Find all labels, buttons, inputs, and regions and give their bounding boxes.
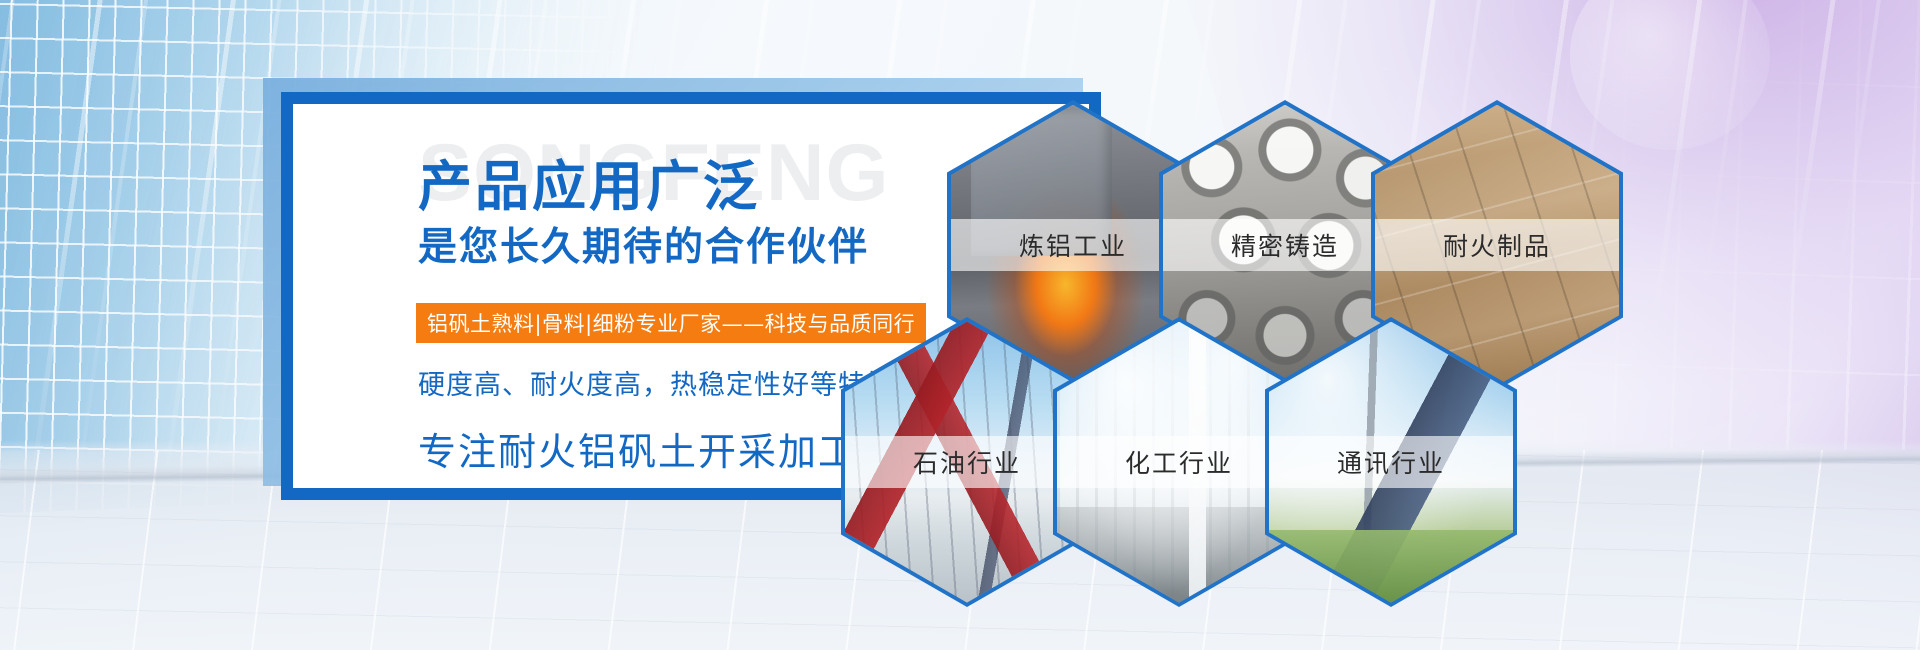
slogan-text: 专注耐火铝矾土开采加工 (418, 434, 858, 472)
hexagon-label-text: 精密铸造 (1231, 227, 1339, 263)
hexagon-label-oil: 石油行业 (845, 436, 1089, 488)
tagline-text: 铝矾土熟料|骨料|细粉专业厂家——科技与品质同行 (427, 308, 915, 338)
hexagon-label-telecom: 通讯行业 (1269, 436, 1513, 488)
promotional-banner: SONGFENG 产品应用广泛 是您长久期待的合作伙伴 铝矾土熟料|骨料|细粉专… (0, 0, 1920, 650)
hexagon-label-casting: 精密铸造 (1163, 219, 1407, 271)
headline-secondary: 是您长久期待的合作伙伴 (418, 228, 869, 267)
hexagon-label-text: 化工行业 (1125, 444, 1233, 480)
hexagon-label-text: 炼铝工业 (1019, 227, 1127, 263)
tagline-highlight-bar: 铝矾土熟料|骨料|细粉专业厂家——科技与品质同行 (416, 303, 926, 343)
hexagon-label-chemical: 化工行业 (1057, 436, 1301, 488)
hexagon-label-text: 石油行业 (913, 444, 1021, 480)
headline-primary: 产品应用广泛 (418, 160, 760, 214)
hexagon-label-aluminium: 炼铝工业 (951, 219, 1195, 271)
feature-text: 硬度高、耐火度高，热稳定性好等特性 (418, 372, 894, 399)
hexagon-label-text: 通讯行业 (1337, 444, 1445, 480)
hexagon-label-text: 耐火制品 (1443, 227, 1551, 263)
hexagon-label-refractory: 耐火制品 (1375, 219, 1619, 271)
